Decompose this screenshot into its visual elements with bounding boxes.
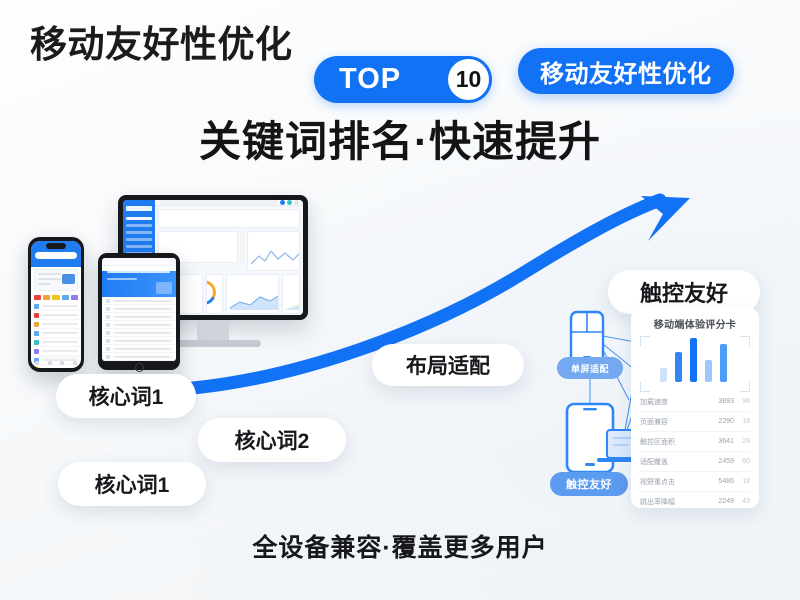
scorecard-row: 加载速度 3893 98 <box>640 392 750 412</box>
tablet-banner <box>102 271 176 297</box>
scorecard-row-delta: 98 <box>734 398 750 405</box>
scorecard-row-delta: 28 <box>734 438 750 445</box>
tablet-device <box>98 253 180 370</box>
keyword-pill-1[interactable]: 核心词1 <box>56 374 196 418</box>
scorecard-chart <box>640 336 750 392</box>
phone-search-input <box>35 252 77 259</box>
smartphone-device <box>28 237 84 372</box>
scorecard-bars <box>660 338 727 382</box>
scorecard-row-value: 2290 <box>708 418 734 425</box>
scorecard-row-name: 适配覆盖 <box>640 457 708 467</box>
scorecard-row-name: 页面兼容 <box>640 417 708 427</box>
scorecard-row-name: 加载速度 <box>640 397 708 407</box>
monitor-stand-neck <box>197 320 229 340</box>
top-badge-number: 10 <box>448 59 489 100</box>
tablet-home-button <box>135 363 144 372</box>
scorecard-row-name: 触控区面积 <box>640 437 708 447</box>
device-mockup-group <box>28 195 328 375</box>
scorecard-row-value: 2249 <box>708 498 734 505</box>
dynamic-island <box>46 243 66 249</box>
top-ranking-badge: TOP 10 <box>314 56 492 103</box>
keyword-pill-3[interactable]: 核心词1 <box>58 462 206 506</box>
scorecard-row: 触控区面积 3641 28 <box>640 432 750 452</box>
phone-tab-bar <box>31 357 81 368</box>
page-title: 移动友好性优化 <box>30 26 293 63</box>
mobile-experience-illustration: 单屏适配 触控友好 移动端体验评分卡 加载速度 3893 98 <box>545 308 775 513</box>
scorecard-row-value: 2459 <box>708 458 734 465</box>
scorecard-row-name: 跳出率降幅 <box>640 497 708 507</box>
scorecard-row-delta: 60 <box>734 458 750 465</box>
single-screen-badge: 单屏适配 <box>557 357 623 379</box>
scorecard-row: 页面兼容 2290 18 <box>640 412 750 432</box>
keyword-pill-2[interactable]: 核心词2 <box>198 418 346 462</box>
layout-adapt-pill[interactable]: 布局适配 <box>372 344 524 386</box>
footer-caption: 全设备兼容·覆盖更多用户 <box>0 528 800 564</box>
donut-chart-icon <box>206 280 217 305</box>
mobile-scorecard: 移动端体验评分卡 加载速度 3893 98 页面兼容 2290 <box>631 308 759 508</box>
scorecard-row-delta: 43 <box>734 498 750 505</box>
phone-category-tags <box>31 293 81 302</box>
phone-result-card <box>34 269 78 291</box>
scorecard-row-value: 3641 <box>708 438 734 445</box>
scorecard-row: 跳出率降幅 2249 43 <box>640 492 750 511</box>
top-badge-word: TOP <box>339 63 401 96</box>
page-subtitle: 关键词排名·快速提升 <box>0 121 800 163</box>
scorecard-row: 视野重点击 5486 18 <box>640 472 750 492</box>
header-tag-pill: 移动友好性优化 <box>518 48 734 94</box>
touch-friendly-badge: 触控友好 <box>550 472 628 496</box>
scorecard-row-value: 5486 <box>708 478 734 485</box>
scorecard-row-value: 3893 <box>708 398 734 405</box>
scorecard-row: 适配覆盖 2459 60 <box>640 452 750 472</box>
poster-canvas: 移动友好性优化 TOP 10 移动友好性优化 关键词排名·快速提升 <box>0 0 800 600</box>
scorecard-row-delta: 18 <box>734 418 750 425</box>
scorecard-row-delta: 18 <box>734 478 750 485</box>
scorecard-title: 移动端体验评分卡 <box>640 316 750 331</box>
scorecard-row-name: 视野重点击 <box>640 477 708 487</box>
